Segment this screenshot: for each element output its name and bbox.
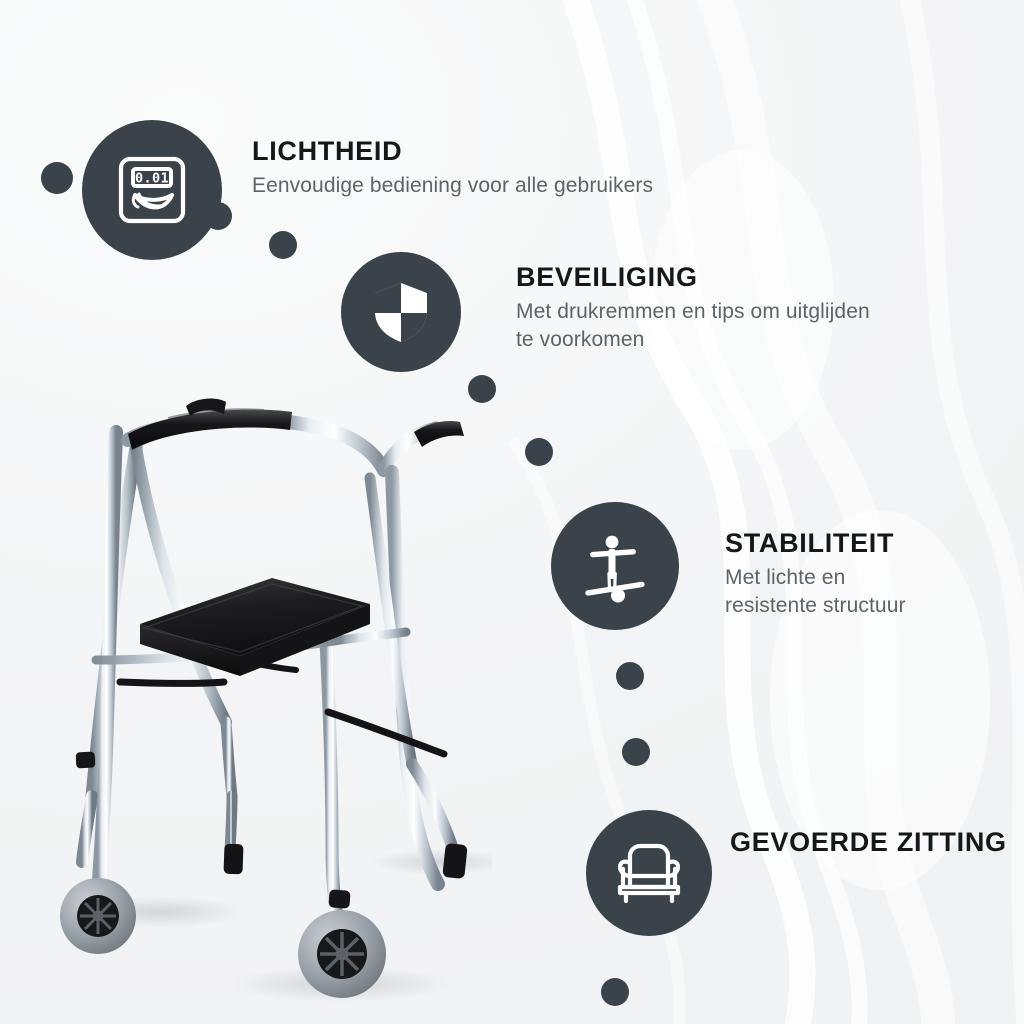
scale-display-value: 0.01 — [135, 171, 169, 187]
feature-subtitle: Met drukremmen en tips om uitglijden te … — [516, 298, 986, 354]
connector-dot — [616, 662, 644, 690]
feature-text-lichtheid: LICHTHEID Eenvoudige bediening voor alle… — [252, 136, 952, 200]
feature-text-stabiliteit: STABILITEIT Met lichte en resistente str… — [725, 528, 1015, 620]
feature-subtitle: Met lichte en resistente structuur — [725, 564, 1015, 620]
infographic-canvas: 0.01 LICHTHEID Eenvoudige bediening voor… — [0, 0, 1024, 1024]
feature-text-gevoerde-zitting: GEVOERDE ZITTING — [730, 827, 1024, 857]
feature-circle-beveiliging — [341, 252, 461, 372]
feature-title: GEVOERDE ZITTING — [730, 827, 1024, 857]
balance-person-icon — [576, 527, 654, 605]
connector-dot — [269, 231, 297, 259]
feature-subtitle: Eenvoudige bediening voor alle gebruiker… — [252, 172, 952, 200]
feature-circle-gevoerde-zitting — [586, 810, 712, 936]
shield-icon — [366, 277, 436, 347]
feature-title: LICHTHEID — [252, 136, 952, 166]
feature-circle-stabiliteit — [551, 502, 679, 630]
connector-dot — [622, 738, 650, 766]
weight-scale-feather-icon: 0.01 — [112, 150, 192, 230]
feature-text-beveiliging: BEVEILIGING Met drukremmen en tips om ui… — [516, 262, 986, 354]
feature-circle-lichtheid: 0.01 — [82, 120, 222, 260]
product-image — [40, 392, 492, 1002]
connector-dot — [525, 438, 553, 466]
connector-dot — [601, 978, 629, 1006]
connector-dot — [468, 375, 496, 403]
feature-title: STABILITEIT — [725, 528, 1015, 558]
armchair-icon — [611, 835, 687, 911]
feature-title: BEVEILIGING — [516, 262, 986, 292]
connector-dot — [41, 162, 73, 194]
